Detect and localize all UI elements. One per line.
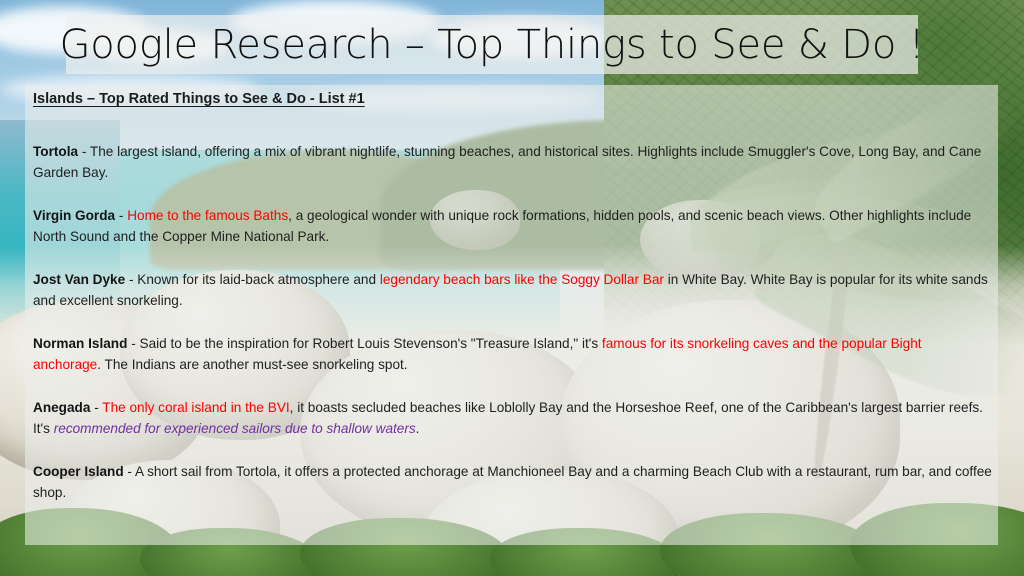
island-name: Norman Island: [33, 336, 127, 351]
island-entry: Virgin Gorda - Home to the famous Baths,…: [33, 205, 993, 247]
entry-text: -: [115, 208, 127, 223]
entry-text: - A short sail from Tortola, it offers a…: [33, 464, 992, 500]
island-name: Virgin Gorda: [33, 208, 115, 223]
list-subtitle: Islands – Top Rated Things to See & Do -…: [33, 91, 365, 107]
entry-text: - The largest island, offering a mix of …: [33, 144, 981, 180]
island-entry: Anegada - The only coral island in the B…: [33, 397, 993, 439]
content-panel: Islands – Top Rated Things to See & Do -…: [25, 85, 998, 545]
entry-text: . The Indians are another must-see snork…: [97, 357, 407, 372]
entry-text: .: [416, 421, 420, 436]
island-entry: Jost Van Dyke - Known for its laid-back …: [33, 269, 993, 311]
entry-text: - Known for its laid-back atmosphere and: [125, 272, 380, 287]
entry-text: - Said to be the inspiration for Robert …: [127, 336, 602, 351]
island-entry: Tortola - The largest island, offering a…: [33, 141, 993, 183]
island-entry-list: Tortola - The largest island, offering a…: [33, 141, 993, 503]
entry-highlight-purple: recommended for experienced sailors due …: [54, 421, 416, 436]
entry-highlight-red: Home to the famous Baths: [127, 208, 288, 223]
entry-highlight-red: legendary beach bars like the Soggy Doll…: [380, 272, 664, 287]
island-entry: Norman Island - Said to be the inspirati…: [33, 333, 993, 375]
island-name: Cooper Island: [33, 464, 124, 479]
island-entry: Cooper Island - A short sail from Tortol…: [33, 461, 993, 503]
island-name: Jost Van Dyke: [33, 272, 125, 287]
entry-highlight-red: The only coral island in the BVI: [102, 400, 289, 415]
title-banner: Google Research – Top Things to See & Do…: [66, 15, 918, 74]
page-title: Google Research – Top Things to See & Do…: [59, 25, 924, 65]
slide: Google Research – Top Things to See & Do…: [0, 0, 1024, 576]
island-name: Anegada: [33, 400, 90, 415]
entry-text: -: [90, 400, 102, 415]
island-name: Tortola: [33, 144, 78, 159]
